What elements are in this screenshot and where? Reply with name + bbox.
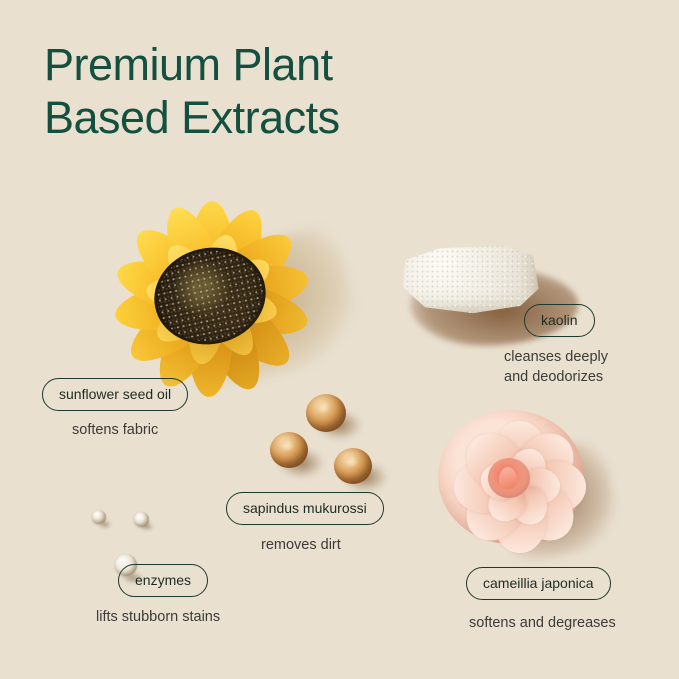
ingredient-caption-kaolin: cleanses deeply and deodorizes <box>504 347 608 387</box>
ingredient-caption-enzymes: lifts stubborn stains <box>96 607 220 627</box>
enzyme-bead <box>92 510 106 524</box>
soap-nut <box>334 448 372 484</box>
ingredient-caption-sapindus-mukurossi: removes dirt <box>261 535 341 555</box>
enzyme-bead <box>134 512 149 527</box>
camellia-center <box>488 458 530 498</box>
sunflower-image <box>92 196 332 401</box>
ingredient-caption-sunflower-seed-oil: softens fabric <box>72 420 158 440</box>
ingredient-caption-cameillia-japonica: softens and degreases <box>469 613 616 633</box>
product-ingredient-infographic: Premium Plant Based Extracts <box>0 0 679 679</box>
ingredient-pill-cameillia-japonica[interactable]: cameillia japonica <box>466 567 611 600</box>
camellia-image <box>432 404 607 569</box>
ingredient-pill-sapindus-mukurossi[interactable]: sapindus mukurossi <box>226 492 384 525</box>
ingredient-pill-kaolin[interactable]: kaolin <box>524 304 595 337</box>
page-title: Premium Plant Based Extracts <box>44 38 340 144</box>
soap-nuts-image <box>268 386 398 496</box>
ingredient-pill-sunflower-seed-oil[interactable]: sunflower seed oil <box>42 378 188 411</box>
soap-nut <box>306 394 346 432</box>
ingredient-pill-enzymes[interactable]: enzymes <box>118 564 208 597</box>
soap-nut <box>270 432 308 468</box>
